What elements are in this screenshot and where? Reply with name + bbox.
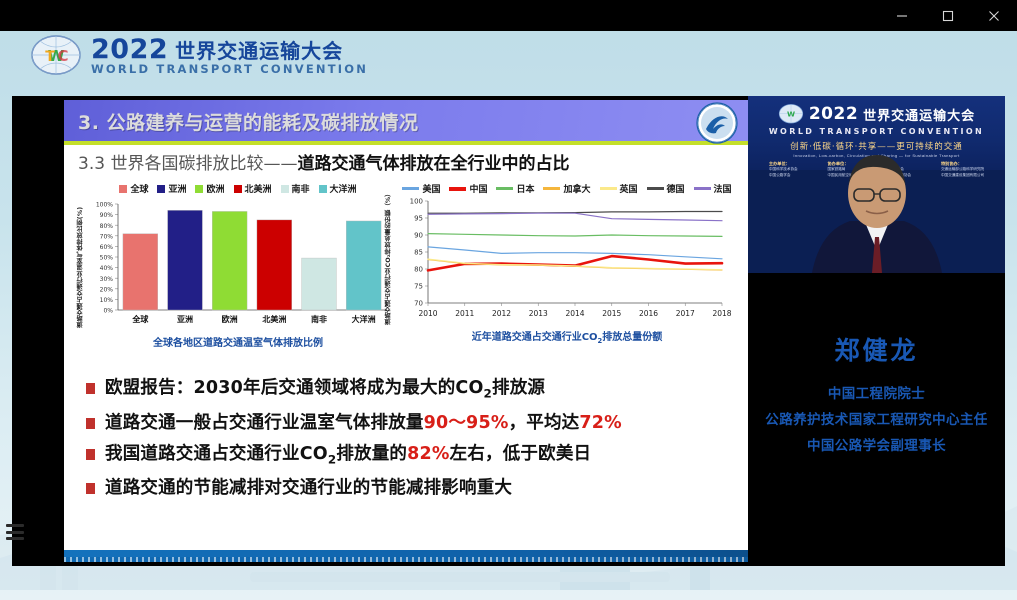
bullet-marker-icon	[86, 418, 95, 429]
speaker-info: 郑健龙 中国工程院院士公路养护技术国家工程研究中心主任中国公路学会副理事长	[748, 273, 1005, 566]
svg-text:大洋洲: 大洋洲	[352, 314, 376, 324]
line-chart-ylabel: 道路交通占交通行业CO₂排放总量的份额（%）	[384, 199, 393, 325]
slide-section-title: 3. 公路建养与运营的能耗及碳排放情况	[78, 108, 419, 135]
svg-text:70: 70	[414, 300, 423, 308]
maximize-icon[interactable]	[925, 0, 971, 31]
app-window: W C T 2022 世界交通运输大会 WORLD TRANSPORT CONV…	[0, 0, 1017, 600]
legend-item: 中国	[449, 182, 487, 195]
legend-swatch	[449, 187, 466, 191]
svg-text:2016: 2016	[639, 309, 658, 318]
legend-label: 英国	[620, 182, 638, 195]
svg-text:2017: 2017	[676, 309, 695, 318]
credit-column: 主办单位：中国科学技术协会中国公路学会	[769, 161, 798, 178]
legend-item: 美国	[402, 182, 440, 195]
svg-text:85: 85	[414, 249, 423, 257]
legend-item: 南非	[281, 182, 310, 195]
legend-swatch	[281, 185, 289, 193]
bar-chart-legend: 全球亚洲欧洲北美洲南非大洋洲	[78, 182, 398, 195]
bullet-text-3: 我国道路交通占交通行业CO2排放量的82%左右，低于欧美日	[105, 444, 591, 467]
svg-text:T: T	[45, 49, 55, 65]
legend-item: 欧洲	[195, 182, 224, 195]
svg-text:W: W	[787, 110, 795, 119]
legend-item: 大洋洲	[319, 182, 357, 195]
brand-year: 2022	[91, 36, 168, 63]
line-chart-plot: 7075808590951002010201120122013201420152…	[400, 197, 734, 327]
svg-text:南非: 南非	[311, 314, 327, 324]
charts-row: 全球亚洲欧洲北美洲南非大洋洲 道路交通占交通行业温室气体排放比例(%) 0%10…	[64, 182, 748, 364]
legend-item: 亚洲	[157, 182, 186, 195]
legend-item: 日本	[496, 182, 534, 195]
legend-swatch	[647, 187, 664, 190]
bullet-text-4: 道路交通的节能减排对交通行业的节能减排影响重大	[105, 478, 512, 498]
menu-bar-2	[6, 531, 24, 534]
legend-label: 中国	[469, 182, 487, 195]
legend-swatch	[402, 187, 419, 190]
subtitle-plain: 3.3 世界各国碳排放比较——	[78, 154, 297, 174]
minimize-icon[interactable]	[879, 0, 925, 31]
video-column: W 2022 世界交通运输大会 WORLD TRANSPORT CONVENTI…	[748, 96, 1005, 566]
window-controls	[879, 0, 1017, 31]
line-caption-text: 近年道路交通占交通行业CO2排放总量份额	[472, 332, 663, 343]
slide-header: 3. 公路建养与运营的能耗及碳排放情况	[64, 100, 748, 145]
bar-chart-plot: 0%10%20%30%40%50%60%70%80%90%100%全球亚洲欧洲北…	[78, 198, 398, 333]
legend-label: 欧洲	[206, 182, 224, 195]
legend-swatch	[195, 185, 203, 193]
svg-text:90%: 90%	[100, 213, 114, 220]
legend-label: 德国	[667, 182, 685, 195]
legend-label: 大洋洲	[330, 182, 357, 195]
svg-text:欧洲: 欧洲	[222, 314, 238, 324]
legend-swatch	[319, 185, 327, 193]
video-banner-year: 2022	[809, 104, 858, 124]
wtc-globe-icon: W	[778, 103, 804, 125]
svg-text:40%: 40%	[100, 266, 114, 273]
speaker-video[interactable]: W 2022 世界交通运输大会 WORLD TRANSPORT CONVENTI…	[748, 96, 1005, 273]
svg-text:2012: 2012	[492, 309, 511, 318]
speaker-portrait	[802, 153, 952, 273]
line-chart-caption: 近年道路交通占交通行业CO2排放总量份额	[400, 328, 734, 345]
speaker-title-line: 中国公路学会副理事长	[748, 434, 1005, 454]
legend-swatch	[119, 185, 127, 193]
list-item: 欧盟报告：2030年后交通领域将成为最大的CO2排放源	[86, 378, 748, 401]
window-titlebar	[0, 0, 1017, 31]
svg-text:全球: 全球	[131, 314, 149, 324]
legend-item: 法国	[694, 182, 732, 195]
svg-text:2013: 2013	[529, 309, 548, 318]
brand-header: W C T 2022 世界交通运输大会 WORLD TRANSPORT CONV…	[30, 33, 368, 78]
legend-swatch	[600, 187, 617, 190]
svg-text:90: 90	[414, 232, 423, 240]
bullet-text-1: 欧盟报告：2030年后交通领域将成为最大的CO2排放源	[105, 378, 545, 401]
svg-text:80: 80	[414, 266, 423, 274]
legend-label: 南非	[292, 182, 310, 195]
svg-text:75: 75	[414, 283, 423, 291]
speaker-title-line: 公路养护技术国家工程研究中心主任	[748, 408, 1005, 428]
svg-text:60%: 60%	[100, 244, 114, 251]
presentation-stage[interactable]: 3. 公路建养与运营的能耗及碳排放情况 3.3 世界各国碳排放比较—— 道路交通…	[12, 96, 1005, 566]
list-item: 我国道路交通占交通行业CO2排放量的82%左右，低于欧美日	[86, 444, 748, 467]
brand-title-en: WORLD TRANSPORT CONVENTION	[91, 64, 368, 76]
list-item: 道路交通的节能减排对交通行业的节能减排影响重大	[86, 478, 748, 498]
legend-swatch	[496, 187, 513, 190]
speaker-name: 郑健龙	[748, 331, 1005, 367]
bullet-list: 欧盟报告：2030年后交通领域将成为最大的CO2排放源 道路交通一般占交通行业温…	[86, 378, 748, 498]
slide-footer-band	[64, 550, 748, 562]
svg-text:80%: 80%	[100, 223, 114, 230]
legend-swatch	[694, 187, 711, 190]
svg-text:2011: 2011	[455, 309, 474, 318]
svg-text:100: 100	[410, 198, 423, 206]
menu-bar-1	[6, 524, 24, 527]
legend-label: 美国	[422, 182, 440, 195]
bar-chart-caption: 全球各地区道路交通温室气体排放比例	[78, 334, 398, 349]
legend-swatch	[234, 185, 242, 193]
svg-text:10%: 10%	[100, 297, 114, 304]
bullet-text-2: 道路交通一般占交通行业温室气体排放量90～95%，平均达72%	[105, 413, 622, 433]
slide[interactable]: 3. 公路建养与运营的能耗及碳排放情况 3.3 世界各国碳排放比较—— 道路交通…	[64, 100, 748, 562]
list-item: 道路交通一般占交通行业温室气体排放量90～95%，平均达72%	[86, 413, 748, 433]
svg-text:2018: 2018	[712, 309, 731, 318]
svg-text:50%: 50%	[100, 255, 114, 262]
institution-logo-icon	[696, 102, 738, 144]
line-chart: 美国中国日本加拿大英国德国法国 道路交通占交通行业CO₂排放总量的份额（%） 7…	[400, 182, 734, 364]
svg-text:95: 95	[414, 215, 423, 223]
legend-item: 德国	[647, 182, 685, 195]
legend-label: 加拿大	[563, 182, 590, 195]
close-icon[interactable]	[971, 0, 1017, 31]
speaker-title-line: 中国工程院院士	[748, 382, 1005, 402]
menu-icon[interactable]	[6, 524, 24, 540]
bullet-marker-icon	[86, 483, 95, 494]
legend-item: 英国	[600, 182, 638, 195]
legend-swatch	[543, 187, 560, 190]
svg-text:100%: 100%	[96, 202, 113, 209]
svg-text:30%: 30%	[100, 276, 114, 283]
svg-text:70%: 70%	[100, 234, 114, 241]
video-banner-title-en: WORLD TRANSPORT CONVENTION	[748, 127, 1005, 136]
legend-label: 全球	[130, 182, 148, 195]
bullet-marker-icon	[86, 383, 95, 394]
menu-bar-3	[6, 537, 24, 540]
bullet-marker-icon	[86, 449, 95, 460]
legend-label: 法国	[714, 182, 732, 195]
video-banner-title-cn: 世界交通运输大会	[863, 105, 975, 124]
svg-text:2015: 2015	[602, 309, 621, 318]
bar-chart: 全球亚洲欧洲北美洲南非大洋洲 道路交通占交通行业温室气体排放比例(%) 0%10…	[78, 182, 398, 364]
brand-title-cn: 世界交通运输大会	[175, 41, 343, 61]
legend-label: 亚洲	[168, 182, 186, 195]
legend-label: 日本	[516, 182, 534, 195]
legend-item: 加拿大	[543, 182, 590, 195]
svg-text:2010: 2010	[418, 309, 437, 318]
svg-text:亚洲: 亚洲	[177, 315, 193, 324]
svg-text:C: C	[57, 47, 68, 65]
legend-item: 全球	[119, 182, 148, 195]
speaker-titles: 中国工程院院士公路养护技术国家工程研究中心主任中国公路学会副理事长	[748, 382, 1005, 454]
svg-text:北美洲: 北美洲	[262, 314, 286, 324]
svg-text:2014: 2014	[565, 309, 584, 318]
svg-text:0%: 0%	[103, 308, 113, 315]
svg-text:20%: 20%	[100, 287, 114, 294]
legend-label: 北美洲	[245, 182, 272, 195]
slide-subtitle: 3.3 世界各国碳排放比较—— 道路交通气体排放在全行业中的占比	[78, 154, 748, 174]
legend-item: 北美洲	[234, 182, 272, 195]
line-chart-legend: 美国中国日本加拿大英国德国法国	[400, 182, 734, 195]
legend-swatch	[157, 185, 165, 193]
video-banner-slogan: 创新·低碳·循环·共享——更可持续的交通	[748, 140, 1005, 152]
subtitle-bold: 道路交通气体排放在全行业中的占比	[297, 154, 569, 174]
wtc-globe-icon: W C T	[30, 33, 82, 78]
